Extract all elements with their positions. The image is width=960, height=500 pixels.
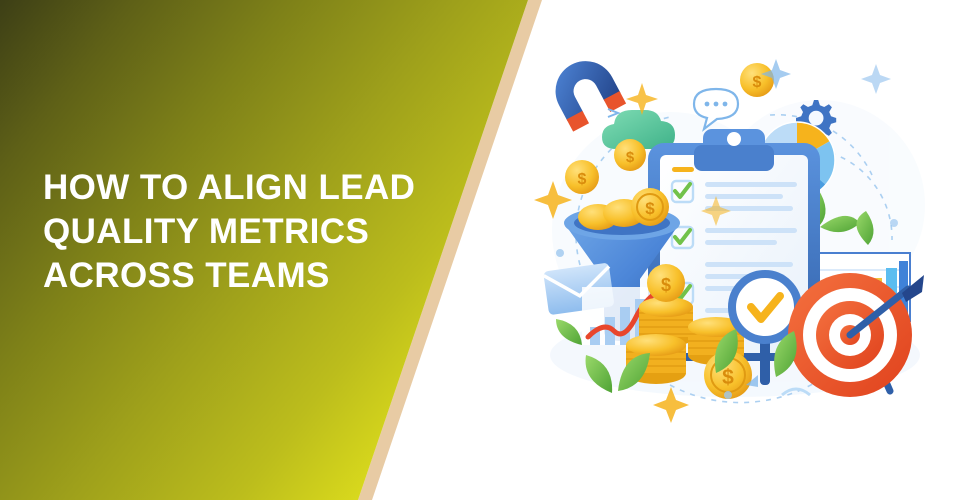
svg-text:$: $	[722, 366, 734, 389]
svg-text:$: $	[626, 149, 635, 166]
marketing-banner: HOW TO ALIGN LEAD QUALITY METRICS ACROSS…	[0, 0, 960, 500]
target-icon	[788, 273, 924, 397]
svg-text:$: $	[645, 199, 655, 218]
page-title: HOW TO ALIGN LEAD QUALITY METRICS ACROSS…	[43, 166, 443, 298]
svg-text:$: $	[753, 74, 762, 91]
lead-quality-metrics-illustration: $ $ $ $	[520, 55, 950, 455]
magnet-icon	[545, 55, 626, 132]
svg-text:$: $	[578, 171, 587, 188]
svg-text:$: $	[661, 275, 671, 295]
